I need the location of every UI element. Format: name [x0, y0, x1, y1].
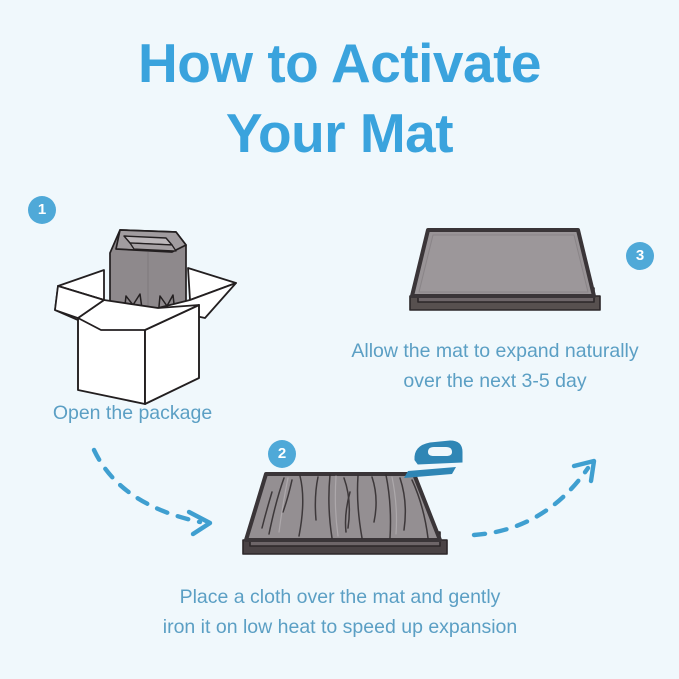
step-1-caption: Open the package — [0, 398, 265, 428]
step-3-caption: Allow the mat to expand naturally over t… — [312, 336, 678, 396]
step-2-caption-line-2: iron it on low heat to speed up expansio… — [110, 612, 570, 642]
step-1-badge: 1 — [28, 196, 56, 224]
step-2-badge: 2 — [268, 440, 296, 468]
wrinkled-mat-illustration — [243, 474, 447, 554]
step-2-caption-line-1: Place a cloth over the mat and gently — [110, 582, 570, 612]
step-3-caption-line-2: over the next 3-5 day — [312, 366, 678, 396]
iron-icon — [404, 441, 462, 478]
open-box-illustration — [55, 230, 236, 404]
step-3-caption-line-1: Allow the mat to expand naturally — [312, 336, 678, 366]
arrow-step2-to-step3 — [474, 461, 594, 535]
flat-mat-illustration — [410, 230, 600, 310]
arrow-step1-to-step2 — [94, 450, 210, 534]
step-1-caption-line-1: Open the package — [0, 398, 265, 428]
step-2-caption: Place a cloth over the mat and gently ir… — [110, 582, 570, 642]
step-3-badge: 3 — [626, 242, 654, 270]
infographic-canvas: How to Activate Your Mat — [0, 0, 679, 679]
